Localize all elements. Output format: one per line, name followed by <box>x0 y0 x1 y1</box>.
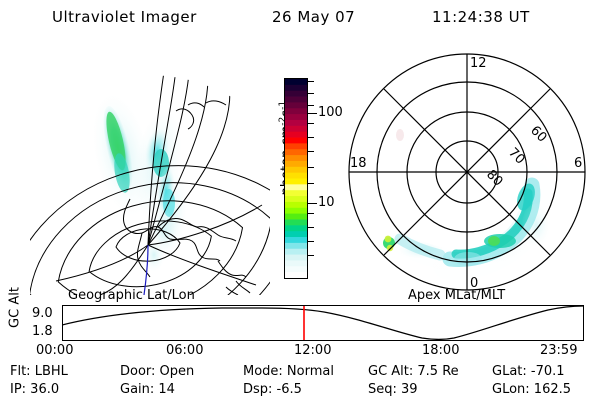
polar-grid <box>349 54 585 290</box>
status-dsp: Dsp: -6.5 <box>243 382 302 397</box>
mlt-label-12: 12 <box>470 56 487 71</box>
instrument-title: Ultraviolet Imager <box>52 8 197 26</box>
geographic-map-svg <box>30 45 270 295</box>
colorbar-gradient <box>285 79 307 278</box>
mlat-label-80: 80 <box>483 167 505 189</box>
orbit-y-axis-label: GC Alt <box>8 280 23 336</box>
colorbar-tick <box>308 137 314 138</box>
aurora-emission-layer <box>84 91 190 271</box>
orbit-altitude-plot[interactable] <box>62 305 584 341</box>
colorbar-tick <box>308 93 314 94</box>
status-seq: Seq: 39 <box>368 382 418 397</box>
orbit-xtick-0600: 06:00 <box>166 343 203 358</box>
status-footer: Flt: LBHL Door: Open Mode: Normal GC Alt… <box>0 364 600 400</box>
status-gc-alt: GC Alt: 7.5 Re <box>368 364 459 379</box>
geographic-map-panel[interactable] <box>30 45 270 295</box>
colorbar-tick <box>308 227 314 228</box>
status-glat: GLat: -70.1 <box>492 364 565 379</box>
altitude-trace <box>62 306 583 340</box>
mlt-label-18: 18 <box>350 156 367 171</box>
colorbar-major-tick <box>308 113 317 114</box>
colorbar-tick <box>308 105 314 106</box>
status-mode: Mode: Normal <box>243 364 334 379</box>
mlt-label-6: 6 <box>574 156 582 171</box>
mlat-label-60: 60 <box>527 123 549 145</box>
orbit-xtick-1800: 18:00 <box>422 343 459 358</box>
observation-date: 26 May 07 <box>272 8 355 26</box>
colorbar-tick <box>308 213 314 214</box>
colorbar-group[interactable]: photon cm-2s-1 100 10 <box>256 45 352 295</box>
status-filter: Flt: LBHL <box>10 364 68 379</box>
apex-panel-caption: Apex MLat/MLT <box>408 288 505 303</box>
colorbar-tick <box>308 81 314 82</box>
apex-polar-svg: 12 18 6 0 60 70 80 <box>340 45 600 295</box>
apex-polar-panel[interactable]: 12 18 6 0 60 70 80 <box>340 45 600 295</box>
orbit-xtick-2359: 23:59 <box>540 343 577 358</box>
header-bar: Ultraviolet Imager 26 May 07 11:24:38 UT <box>0 8 600 32</box>
orbit-altitude-panel[interactable]: GC Alt 9.0 1.8 Geographic Lat/Lon Apex M… <box>0 288 600 360</box>
colorbar-tick <box>308 123 314 124</box>
colorbar-tick <box>308 167 314 168</box>
orbit-xtick-1200: 12:00 <box>294 343 331 358</box>
colorbar-scale[interactable] <box>284 78 308 279</box>
observation-time: 11:24:38 UT <box>432 8 530 26</box>
colorbar-tick <box>308 151 314 152</box>
orbit-ytick-high: 9.0 <box>32 306 53 321</box>
geographic-panel-caption: Geographic Lat/Lon <box>68 288 195 303</box>
status-gain: Gain: 14 <box>120 382 175 397</box>
colorbar-tick-label-10: 10 <box>318 196 335 209</box>
colorbar-tick <box>308 183 314 184</box>
mlat-label-70: 70 <box>505 145 527 167</box>
colorbar-major-tick <box>308 203 317 204</box>
status-glon: GLon: 162.5 <box>492 382 571 397</box>
status-door: Door: Open <box>120 364 194 379</box>
colorbar-tick <box>308 255 314 256</box>
orbit-ytick-low: 1.8 <box>32 324 53 339</box>
orbit-xtick-0000: 00:00 <box>36 343 73 358</box>
colorbar-tick <box>308 241 314 242</box>
status-ip: IP: 36.0 <box>10 382 59 397</box>
